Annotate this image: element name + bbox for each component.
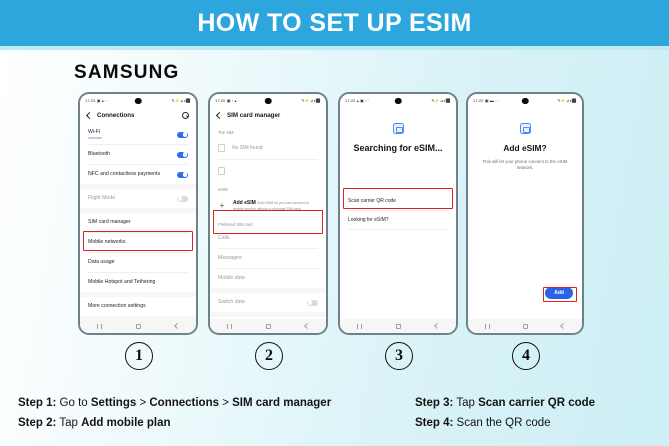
add-esim-title: Add eSIM	[233, 200, 256, 206]
add-esim-body: Add	[468, 171, 582, 319]
row-label: Calls	[218, 235, 230, 242]
status-bar-right: ✎⚡⊿◖⬛	[557, 98, 577, 103]
list-item[interactable]: Mobile data	[210, 269, 326, 288]
app-bar: SIM card manager	[210, 107, 326, 125]
front-camera-punchhole	[265, 98, 272, 105]
list-item[interactable]: Data usage	[80, 253, 196, 272]
section-header-preferred-sim: Preferred SIM card	[210, 217, 326, 229]
back-icon[interactable]	[174, 323, 180, 329]
qr-scan-icon	[520, 123, 531, 134]
list-item-switch-data[interactable]: Switch data	[210, 293, 326, 312]
add-esim-subtext: This will let your phone connect to the …	[478, 159, 572, 172]
status-bar: 17:23 ▣ ▴ ▫ · ✎⚡⊿◖⬛	[80, 94, 196, 107]
caption-prefix: Step 1:	[18, 397, 56, 409]
caption-step-3: Step 3: Tap Scan carrier QR code	[415, 393, 595, 413]
status-bar-right: ✎⚡⊿◖⬛	[301, 98, 321, 103]
row-label: Mobile Hotspot and Tethering	[88, 279, 155, 286]
phone-4-frame: 17:22 ▣ ▬ ▫ · ✎⚡⊿◖⬛ Add eSIM? This will …	[466, 92, 584, 335]
caption-prefix: Step 2:	[18, 417, 56, 429]
phone-1-screen: 17:23 ▣ ▴ ▫ · ✎⚡⊿◖⬛ Connections Wi-Fi ed…	[80, 94, 196, 333]
list-item[interactable]: More connection settings	[80, 297, 196, 316]
app-bar-title: Connections	[97, 112, 177, 119]
android-nav-bar	[468, 319, 582, 333]
caption-step-2: Step 2: Tap Add mobile plan	[18, 413, 331, 433]
front-camera-punchhole	[522, 98, 529, 105]
step-circle-1: 1	[125, 342, 153, 370]
nfc-toggle[interactable]	[177, 172, 188, 178]
list-item[interactable]: Flight Mode	[80, 189, 196, 208]
caption-sep-2: >	[219, 397, 232, 409]
caption-bold-1: Scan carrier QR code	[478, 397, 595, 409]
recents-icon[interactable]	[97, 324, 102, 329]
row-sublabel: eduroam	[88, 136, 102, 140]
row-label: Bluetooth	[88, 151, 110, 158]
caption-bold-2: Connections	[149, 397, 219, 409]
app-bar: Connections	[80, 107, 196, 125]
android-nav-bar	[80, 319, 196, 333]
caption-mid: Tap	[453, 397, 478, 409]
caption-mid: Go to	[56, 397, 91, 409]
list-item[interactable]: Mobile networks	[80, 233, 196, 252]
caption-mid: Tap	[56, 417, 81, 429]
caption-sep-1: >	[136, 397, 149, 409]
recents-icon[interactable]	[227, 324, 232, 329]
banner-underline	[0, 46, 669, 50]
row-label: Data usage	[88, 259, 115, 266]
phone-1-frame: 17:23 ▣ ▴ ▫ · ✎⚡⊿◖⬛ Connections Wi-Fi ed…	[78, 92, 198, 335]
phone-mockups-row: 17:23 ▣ ▴ ▫ · ✎⚡⊿◖⬛ Connections Wi-Fi ed…	[0, 92, 669, 337]
back-icon[interactable]	[304, 323, 310, 329]
list-item[interactable]: Bluetooth	[80, 145, 196, 164]
samsung-logo: SAMSUNG	[74, 62, 180, 84]
list-item-add-esim[interactable]: + Add eSIM Add eSIM so you can connect t…	[210, 194, 326, 217]
status-bar-left: 17:20 ▣ ▫ ▴ ·	[215, 98, 239, 103]
list-item-more-sim-setting[interactable]: More SIM setting	[210, 317, 326, 319]
status-bar-left: 17:23 ▣ ▴ ▫ ·	[85, 98, 109, 103]
caption-bold-1: Settings	[91, 397, 136, 409]
list-item[interactable]: Calls	[210, 229, 326, 248]
chevron-left-icon[interactable]	[86, 112, 93, 119]
status-bar-right: ✎⚡⊿◖⬛	[171, 98, 191, 103]
list-item[interactable]: Wi-Fi eduroam	[80, 125, 196, 144]
phone-4-screen: 17:22 ▣ ▬ ▫ · ✎⚡⊿◖⬛ Add eSIM? This will …	[468, 94, 582, 333]
searching-pane: Searching for eSIM...	[340, 107, 456, 154]
status-bar: 17:22 ▴ ▣ ▫ · ✎⚡⊿◖⬛	[340, 94, 456, 107]
list-item-sim-card-manager[interactable]: SIM card manager	[80, 213, 196, 232]
back-icon[interactable]	[434, 323, 440, 329]
wifi-toggle[interactable]	[177, 132, 188, 138]
list-item-scan-carrier-qr[interactable]: Scan carrier QR code	[340, 192, 456, 210]
recents-icon[interactable]	[485, 324, 490, 329]
recents-icon[interactable]	[357, 324, 362, 329]
settings-list[interactable]: Wi-Fi eduroam Bluetooth NFC and contactl…	[80, 125, 196, 319]
status-bar-left: 17:22 ▴ ▣ ▫ ·	[345, 98, 369, 103]
step-circle-2: 2	[255, 342, 283, 370]
caption-prefix: Step 3:	[415, 397, 453, 409]
phone-3-screen: 17:22 ▴ ▣ ▫ · ✎⚡⊿◖⬛ Searching for eSIM..…	[340, 94, 456, 333]
section-header-esim: eSIM	[210, 182, 326, 194]
home-icon[interactable]	[396, 324, 401, 329]
list-item-looking-for-esim[interactable]: Looking for eSIM?	[340, 211, 456, 229]
add-button[interactable]: Add	[545, 287, 573, 299]
front-camera-punchhole	[135, 98, 142, 105]
header-banner: HOW TO SET UP ESIM	[0, 0, 669, 46]
caption-bold-3: SIM card manager	[232, 397, 331, 409]
row-label: Mobile networks	[88, 239, 125, 246]
add-esim-pane: Add eSIM? This will let your phone conne…	[468, 107, 582, 171]
row-label: Looking for eSIM?	[348, 217, 389, 223]
status-bar: 17:22 ▣ ▬ ▫ · ✎⚡⊿◖⬛	[468, 94, 582, 107]
home-icon[interactable]	[266, 324, 271, 329]
row-label: NFC and contactless payments	[88, 171, 160, 178]
search-icon[interactable]	[182, 112, 189, 119]
list-item[interactable]: No SIM found	[210, 137, 326, 159]
row-label: Messages	[218, 255, 242, 262]
caption-step-1: Step 1: Go to Settings > Connections > S…	[18, 393, 331, 413]
esim-options-list[interactable]: Scan carrier QR code Looking for eSIM?	[340, 154, 456, 319]
android-nav-bar	[210, 319, 326, 333]
home-icon[interactable]	[523, 324, 528, 329]
home-icon[interactable]	[136, 324, 141, 329]
list-item[interactable]: Messages	[210, 249, 326, 268]
caption-prefix: Step 4:	[415, 417, 453, 429]
phone-3-frame: 17:22 ▴ ▣ ▫ · ✎⚡⊿◖⬛ Searching for eSIM..…	[338, 92, 458, 335]
add-esim-heading: Add eSIM?	[478, 143, 572, 154]
list-item[interactable]: NFC and contactless payments	[80, 165, 196, 184]
phone-2-frame: 17:20 ▣ ▫ ▴ · ✎⚡⊿◖⬛ SIM card manager The…	[208, 92, 328, 335]
step-circle-3: 3	[385, 342, 413, 370]
divider	[348, 229, 448, 230]
step-circle-4: 4	[512, 342, 540, 370]
flight-mode-toggle[interactable]	[177, 196, 188, 202]
step-number-row: 1 2 3 4	[0, 342, 669, 376]
back-icon[interactable]	[560, 323, 566, 329]
caption-mid: Scan the QR code	[453, 417, 550, 429]
sim-card-icon	[218, 144, 225, 152]
row-label: No SIM found	[232, 145, 263, 151]
sim-manager-list[interactable]: The SIM No SIM found eSIM + Add eSIM Add…	[210, 125, 326, 319]
captions-right: Step 3: Tap Scan carrier QR code Step 4:…	[415, 393, 595, 433]
row-label: Scan carrier QR code	[348, 198, 396, 204]
status-bar-right: ✎⚡⊿◖⬛	[431, 98, 451, 103]
status-bar: 17:20 ▣ ▫ ▴ · ✎⚡⊿◖⬛	[210, 94, 326, 107]
page-title: HOW TO SET UP ESIM	[197, 9, 471, 38]
bluetooth-toggle[interactable]	[177, 152, 188, 158]
app-bar-title: SIM card manager	[227, 112, 319, 119]
row-label: Wi-Fi	[88, 129, 100, 135]
row-label: More connection settings	[88, 303, 146, 310]
switch-data-toggle[interactable]	[307, 300, 318, 306]
row-label: Mobile data	[218, 275, 245, 282]
sim-card-icon	[218, 167, 225, 175]
plus-icon: +	[218, 202, 226, 210]
row-label: SIM card manager	[88, 219, 131, 226]
row-label: Switch data	[218, 299, 245, 306]
phone-2-screen: 17:20 ▣ ▫ ▴ · ✎⚡⊿◖⬛ SIM card manager The…	[210, 94, 326, 333]
caption-bold-1: Add mobile plan	[81, 417, 170, 429]
chevron-left-icon[interactable]	[216, 112, 223, 119]
captions-left: Step 1: Go to Settings > Connections > S…	[18, 393, 331, 433]
row-label: Flight Mode	[88, 195, 115, 202]
front-camera-punchhole	[395, 98, 402, 105]
android-nav-bar	[340, 319, 456, 333]
section-header-physical-sim: The SIM	[210, 125, 326, 137]
qr-scan-icon	[393, 123, 404, 134]
list-item[interactable]: Mobile Hotspot and Tethering	[80, 273, 196, 292]
section-gap	[80, 316, 196, 319]
caption-step-4: Step 4: Scan the QR code	[415, 413, 595, 433]
searching-heading: Searching for eSIM...	[350, 143, 446, 154]
list-item[interactable]	[210, 160, 326, 182]
status-bar-left: 17:22 ▣ ▬ ▫ ·	[473, 98, 499, 103]
